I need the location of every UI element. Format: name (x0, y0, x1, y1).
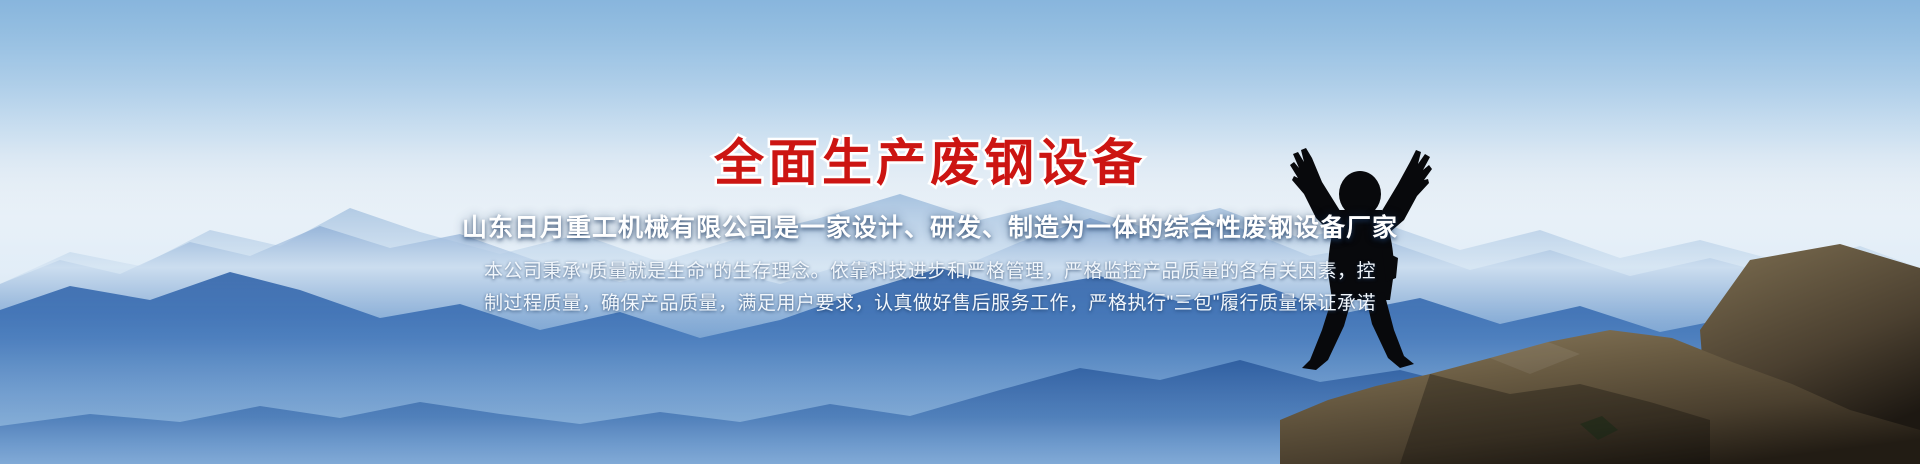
fog-band-upper (0, 174, 1920, 344)
banner-body-line-2: 制过程质量，确保产品质量，满足用户要求，认真做好售后服务工作，严格执行"三包"履… (0, 288, 1920, 315)
cliff-rock (1280, 234, 1920, 464)
banner-subheadline: 山东日月重工机械有限公司是一家设计、研发、制造为一体的综合性废钢设备厂家 (0, 208, 1920, 244)
mountain-layer-front (0, 294, 1920, 464)
mountain-layer-far (0, 134, 1920, 464)
hero-banner: 全面生产废钢设备 山东日月重工机械有限公司是一家设计、研发、制造为一体的综合性废… (0, 0, 1920, 464)
fog-band-lower (0, 314, 1920, 464)
mountain-layer-near (0, 214, 1920, 464)
mountain-layer-mid (0, 164, 1920, 464)
banner-headline: 全面生产废钢设备 (0, 123, 1920, 195)
banner-copy: 全面生产废钢设备 山东日月重工机械有限公司是一家设计、研发、制造为一体的综合性废… (0, 0, 1920, 464)
sky-haze-middle (0, 150, 1920, 320)
person-silhouette-icon (1270, 132, 1450, 372)
banner-body-line-1: 本公司秉承"质量就是生命"的生存理念。依靠科技进步和严格管理，严格监控产品质量的… (0, 256, 1920, 283)
sky-haze-top (0, 0, 1920, 180)
